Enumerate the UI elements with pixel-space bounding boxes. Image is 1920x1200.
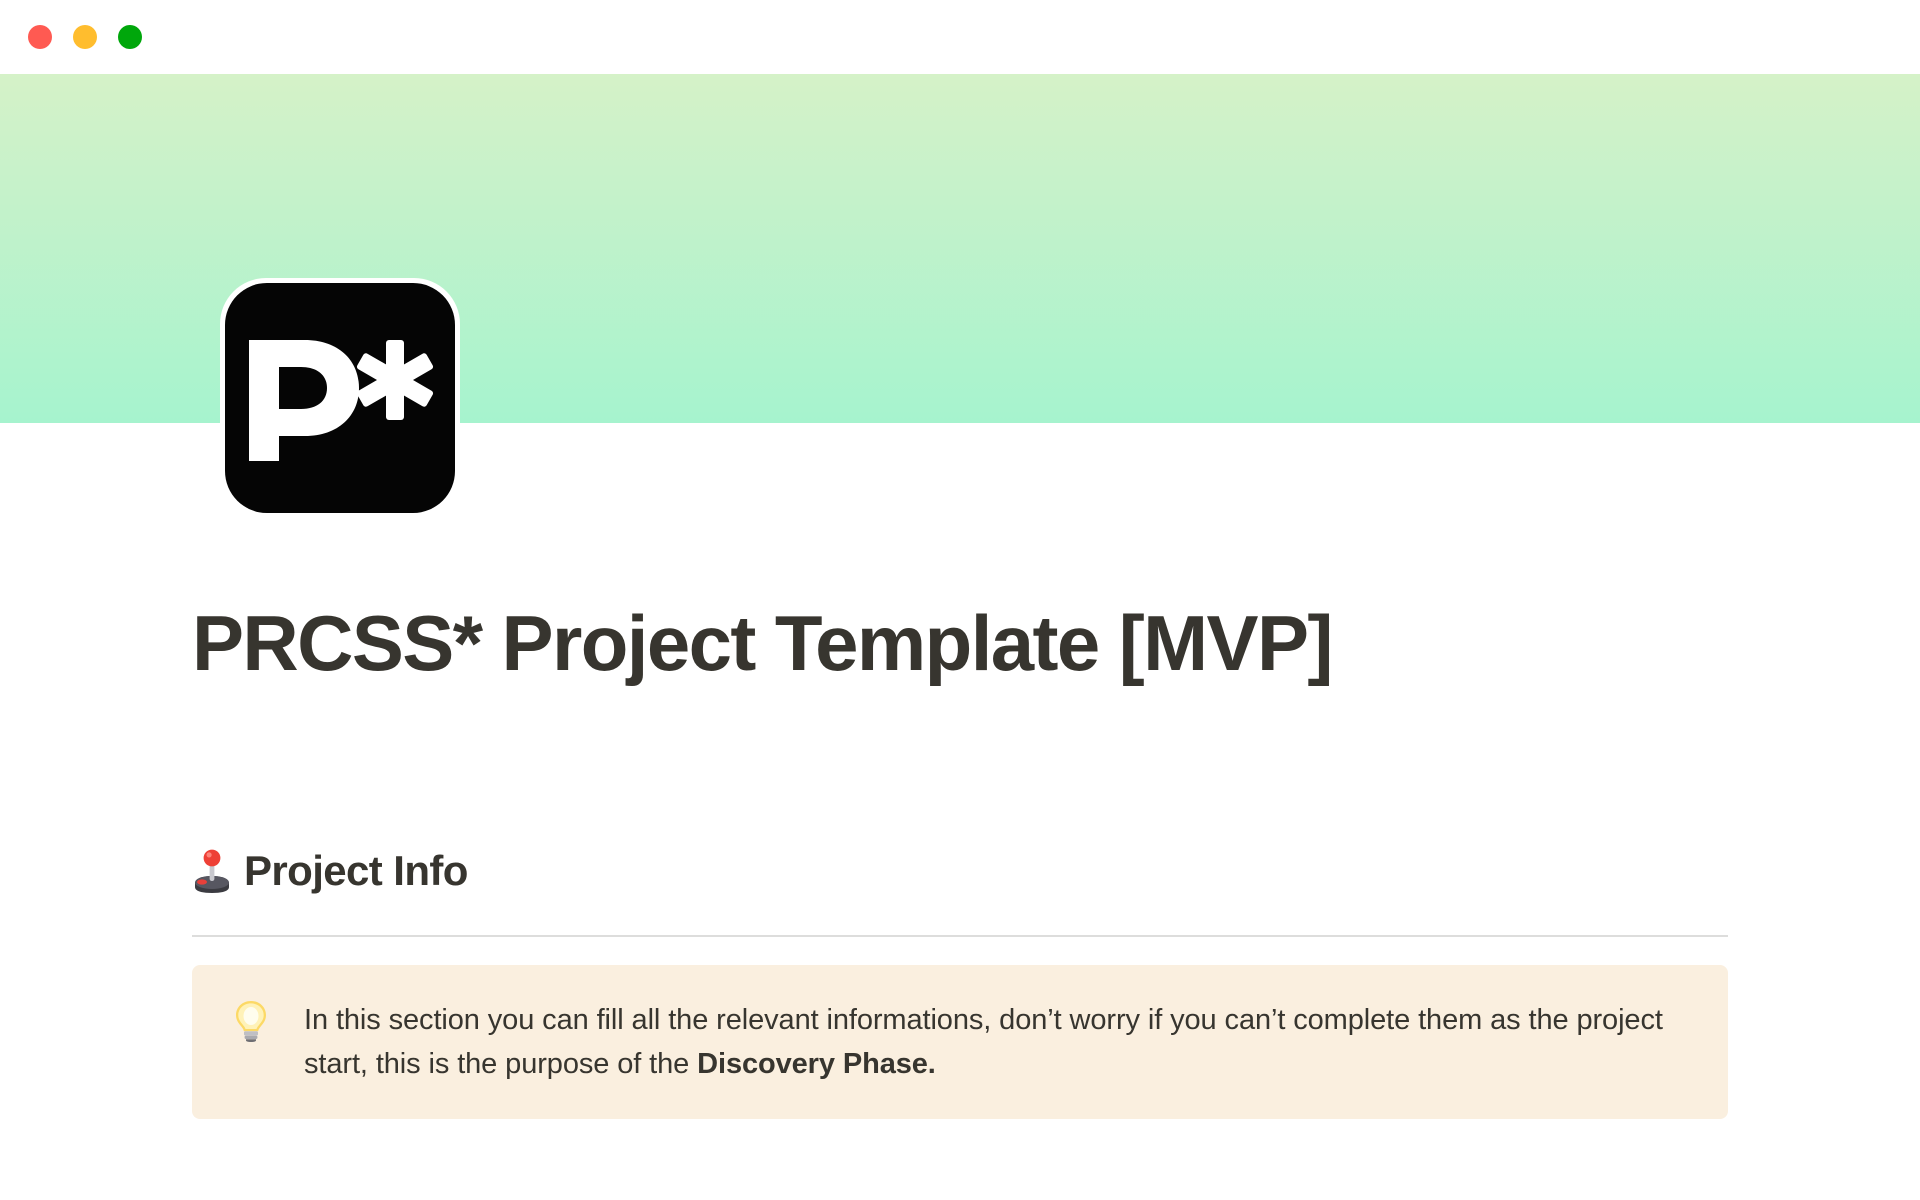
traffic-light-controls [28,25,142,49]
light-bulb-emoji [234,998,268,1042]
page-icon-wrapper[interactable] [220,278,460,518]
callout-text-bold: Discovery Phase. [697,1048,936,1080]
joystick-emoji [192,849,232,893]
callout-text: In this section you can fill all the rel… [304,998,1688,1086]
minimize-window-button[interactable] [73,25,97,49]
section-heading-label: Project Info [244,848,468,894]
prcss-logo-icon[interactable] [225,283,455,513]
section-divider [192,935,1728,937]
maximize-window-button[interactable] [118,25,142,49]
callout-block[interactable]: In this section you can fill all the rel… [192,965,1728,1119]
page-title[interactable]: PRCSS* Project Template [MVP] [192,600,1728,687]
close-window-button[interactable] [28,25,52,49]
section-heading-project-info[interactable]: Project Info [192,848,468,894]
window-title-bar [0,0,1920,74]
callout-text-regular: In this section you can fill all the rel… [304,1004,1663,1080]
